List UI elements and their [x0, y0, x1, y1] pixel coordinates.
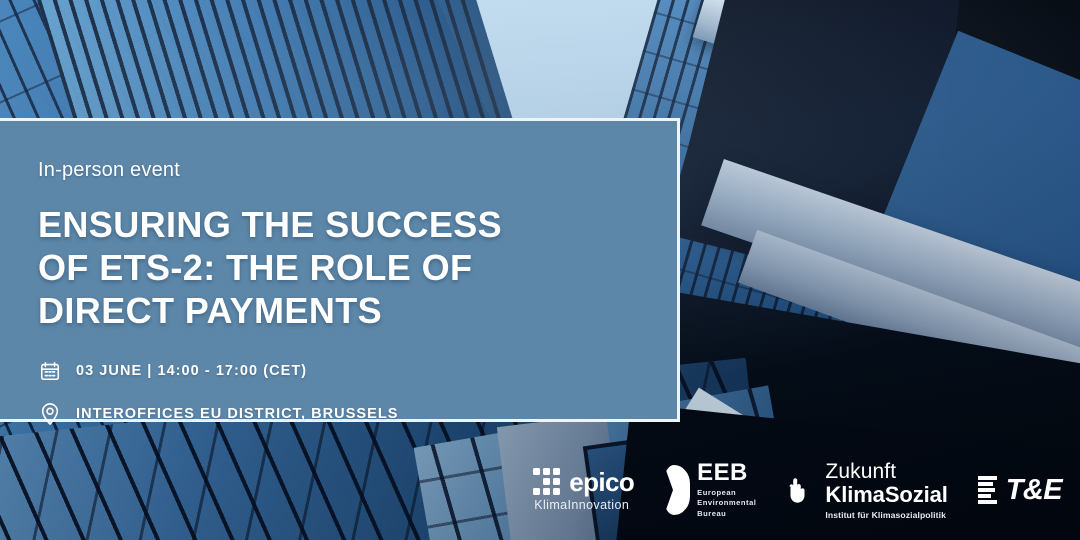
event-location-text: INTEROFFICES EU DISTRICT, BRUSSELS — [76, 406, 399, 422]
zks-hand-icon — [786, 475, 816, 505]
te-wordmark: T&E — [1006, 476, 1062, 505]
event-date-text: 03 JUNE | 14:00 - 17:00 (CET) — [76, 363, 307, 379]
map-pin-icon — [38, 401, 62, 427]
event-banner: In-person event ENSURING THE SUCCESS OF … — [0, 0, 1080, 540]
eeb-subtitle-line-1: European — [697, 488, 736, 497]
eeb-subtitle-line-3: Bureau — [697, 509, 726, 518]
epico-lockup: epico — [533, 468, 634, 495]
headline-line-1: ENSURING THE SUCCESS — [38, 204, 502, 245]
eeb-lockup: EEB European Environmental Bureau — [697, 461, 756, 519]
epico-squares-icon — [533, 468, 560, 495]
epico-tagline: KlimaInnovation — [533, 499, 629, 512]
partner-logo-bar: epico KlimaInnovation EEB European Envir… — [533, 454, 1062, 526]
event-meta: 03 JUNE | 14:00 - 17:00 (CET) INTEROFFIC… — [38, 358, 637, 427]
logo-zukunft-klimasozial: Zukunft KlimaSozial Institut für Klimaso… — [786, 454, 947, 526]
te-bars-icon — [978, 476, 997, 504]
event-info-panel: In-person event ENSURING THE SUCCESS OF … — [0, 118, 680, 422]
eeb-subtitle-line-2: Environmental — [697, 498, 756, 507]
headline-line-3: DIRECT PAYMENTS — [38, 290, 382, 331]
event-location-row: INTEROFFICES EU DISTRICT, BRUSSELS — [38, 401, 637, 427]
eeb-wordmark: EEB — [697, 461, 756, 485]
page-title: ENSURING THE SUCCESS OF ETS-2: THE ROLE … — [38, 204, 637, 332]
eeb-leaf-icon — [664, 465, 690, 515]
zks-subtitle: Institut für Klimasozialpolitik — [825, 511, 947, 520]
logo-eeb: EEB European Environmental Bureau — [664, 454, 756, 526]
zks-lockup: Zukunft KlimaSozial Institut für Klimaso… — [825, 461, 947, 520]
zks-line-1: Zukunft — [825, 461, 947, 482]
epico-wordmark: epico — [569, 469, 634, 495]
zks-line-2: KlimaSozial — [825, 484, 947, 506]
event-date-row: 03 JUNE | 14:00 - 17:00 (CET) — [38, 358, 637, 384]
calendar-icon — [38, 358, 62, 384]
eeb-subtitle: European Environmental Bureau — [697, 488, 756, 519]
headline-line-2: OF ETS-2: THE ROLE OF — [38, 247, 472, 288]
logo-te: T&E — [978, 454, 1062, 526]
logo-epico: epico KlimaInnovation — [533, 454, 634, 526]
event-type-label: In-person event — [38, 159, 637, 182]
